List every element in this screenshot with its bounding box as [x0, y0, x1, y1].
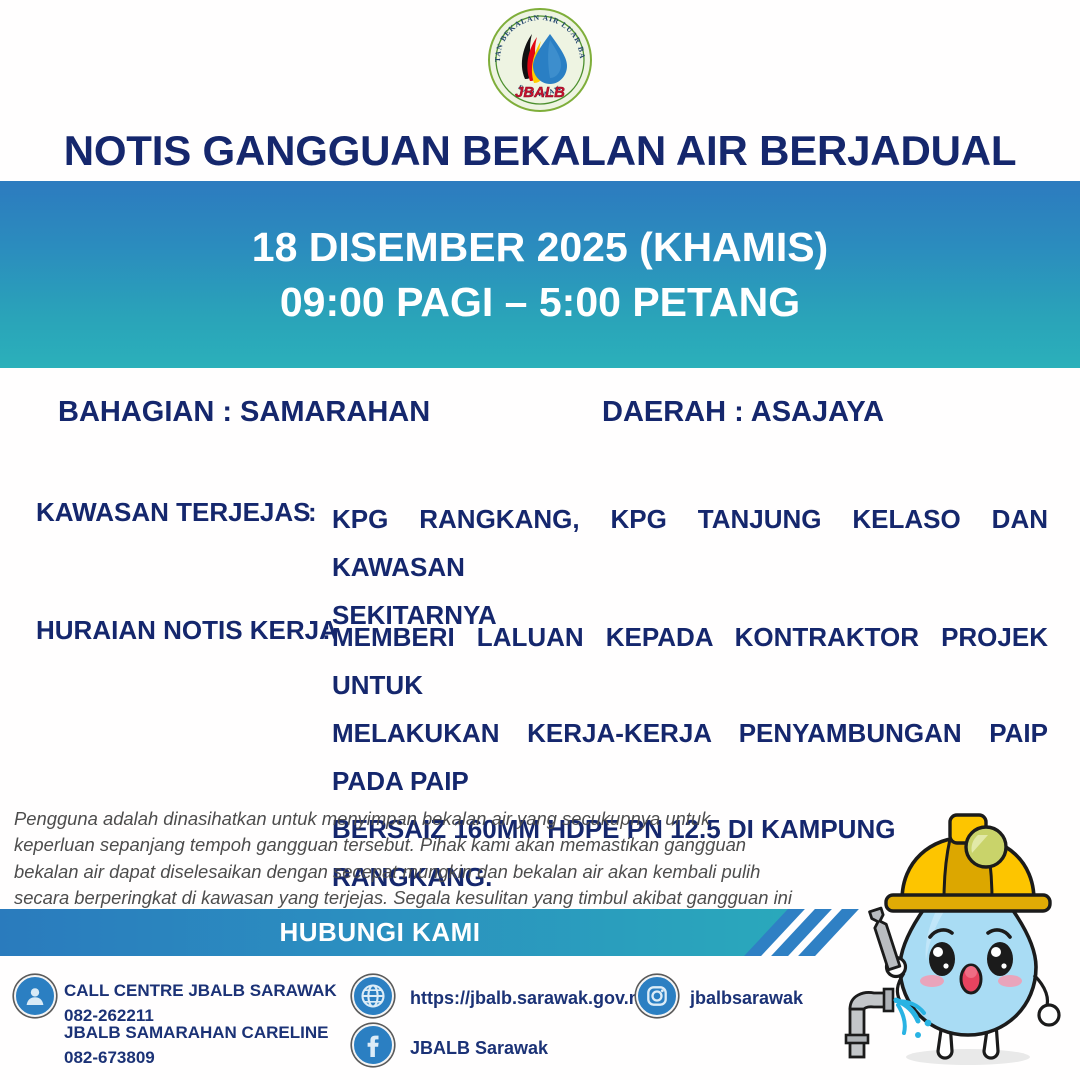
page-title: NOTIS GANGGUAN BEKALAN AIR BERJADUAL [0, 127, 1080, 175]
website-url[interactable]: https://jbalb.sarawak.gov.my/ [410, 985, 660, 1011]
person-icon [14, 975, 56, 1017]
water-droplet-mascot [838, 795, 1080, 1080]
affected-area-line-1: KPG RANGKANG, KPG TANJUNG KELASO DAN KAW… [332, 495, 1048, 591]
facebook-icon[interactable] [352, 1024, 394, 1066]
facebook-handle[interactable]: JBALB Sarawak [410, 1035, 548, 1061]
affected-area-label: KAWASAN TERJEJAS [36, 497, 311, 528]
instagram-handle[interactable]: jbalbsarawak [690, 985, 803, 1011]
contact-banner: HUBUNGI KAMI [0, 909, 800, 956]
careline-number: 082-673809 [64, 1046, 328, 1071]
instagram-icon[interactable] [636, 975, 678, 1017]
notice-time: 09:00 PAGI – 5:00 PETANG [280, 275, 800, 330]
date-time-banner: 18 DISEMBER 2025 (KHAMIS) 09:00 PAGI – 5… [0, 181, 1080, 368]
work-description-line-1: MEMBERI LALUAN KEPADA KONTRAKTOR PROJEK … [332, 613, 1048, 709]
careline-label: JBALB SAMARAHAN CARELINE [64, 1021, 328, 1046]
work-description-colon: : [322, 615, 331, 646]
svg-text:JBALB: JBALB [515, 84, 565, 101]
district-label: DAERAH : ASAJAYA [602, 396, 884, 429]
call-centre-label: CALL CENTRE JBALB SARAWAK [64, 979, 337, 1004]
work-description-line-2: MELAKUKAN KERJA-KERJA PENYAMBUNGAN PAIP … [332, 709, 1048, 805]
logo-container: JABATAN BEKALAN AIR LUAR BANDAR SARAWAK … [0, 6, 1080, 114]
work-description-label: HURAIAN NOTIS KERJA [36, 615, 338, 646]
division-label: BAHAGIAN : SAMARAHAN [58, 396, 430, 429]
jbalb-sarawak-logo: JABATAN BEKALAN AIR LUAR BANDAR SARAWAK … [487, 7, 593, 113]
contact-banner-label: HUBUNGI KAMI [280, 917, 481, 948]
location-row: BAHAGIAN : SAMARAHAN DAERAH : ASAJAYA [0, 396, 1080, 438]
notice-date: 18 DISEMBER 2025 (KHAMIS) [252, 220, 828, 275]
careline-block: JBALB SAMARAHAN CARELINE 082-673809 [64, 1021, 328, 1070]
globe-icon[interactable] [352, 975, 394, 1017]
affected-area-colon: : [308, 497, 317, 528]
notice-poster: JABATAN BEKALAN AIR LUAR BANDAR SARAWAK … [0, 0, 1080, 1080]
